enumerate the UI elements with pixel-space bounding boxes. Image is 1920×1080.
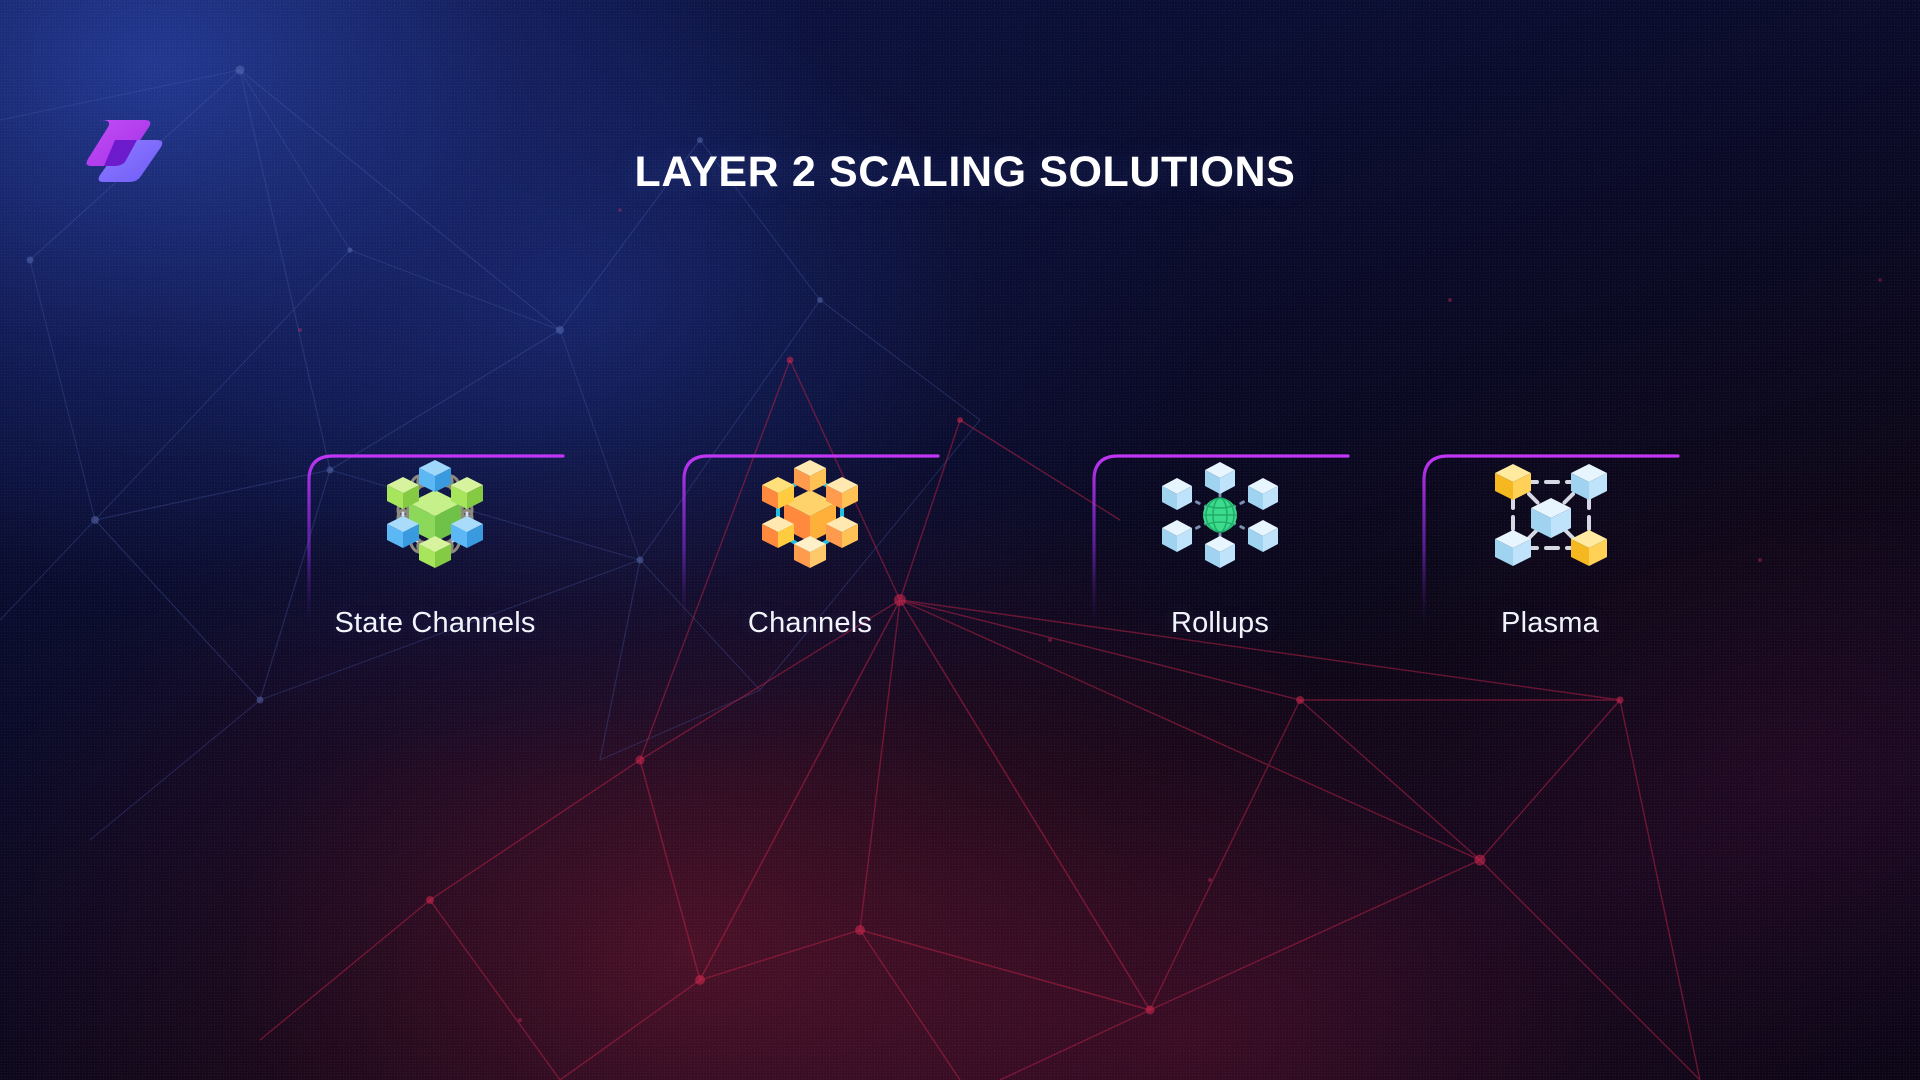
card-icon-channels: [680, 440, 940, 590]
slide-canvas: LAYER 2 SCALING SOLUTIONS: [0, 0, 1920, 1080]
card-icon-rollups: [1090, 440, 1350, 590]
solution-card-channels[interactable]: Channels: [680, 450, 940, 718]
hex-cube-cyan-link-network-icon: [745, 450, 875, 580]
card-label: State Channels: [305, 607, 565, 640]
solution-card-state-channels[interactable]: State Channels: [305, 450, 565, 718]
card-label: Channels: [680, 607, 940, 640]
cubes-around-globe-icon: [1155, 450, 1285, 580]
hex-cube-chain-network-icon: [370, 450, 500, 580]
card-label: Rollups: [1090, 607, 1350, 640]
card-icon-plasma: [1420, 440, 1680, 590]
page-title: LAYER 2 SCALING SOLUTIONS: [0, 148, 1920, 197]
solution-card-rollups[interactable]: Rollups: [1090, 450, 1350, 718]
cube-lattice-dashed-icon: [1485, 450, 1615, 580]
solution-card-plasma[interactable]: Plasma: [1420, 450, 1680, 718]
card-icon-state-channels: [305, 440, 565, 590]
card-label: Plasma: [1420, 607, 1680, 640]
solution-cards-row: State Channels: [0, 450, 1920, 720]
